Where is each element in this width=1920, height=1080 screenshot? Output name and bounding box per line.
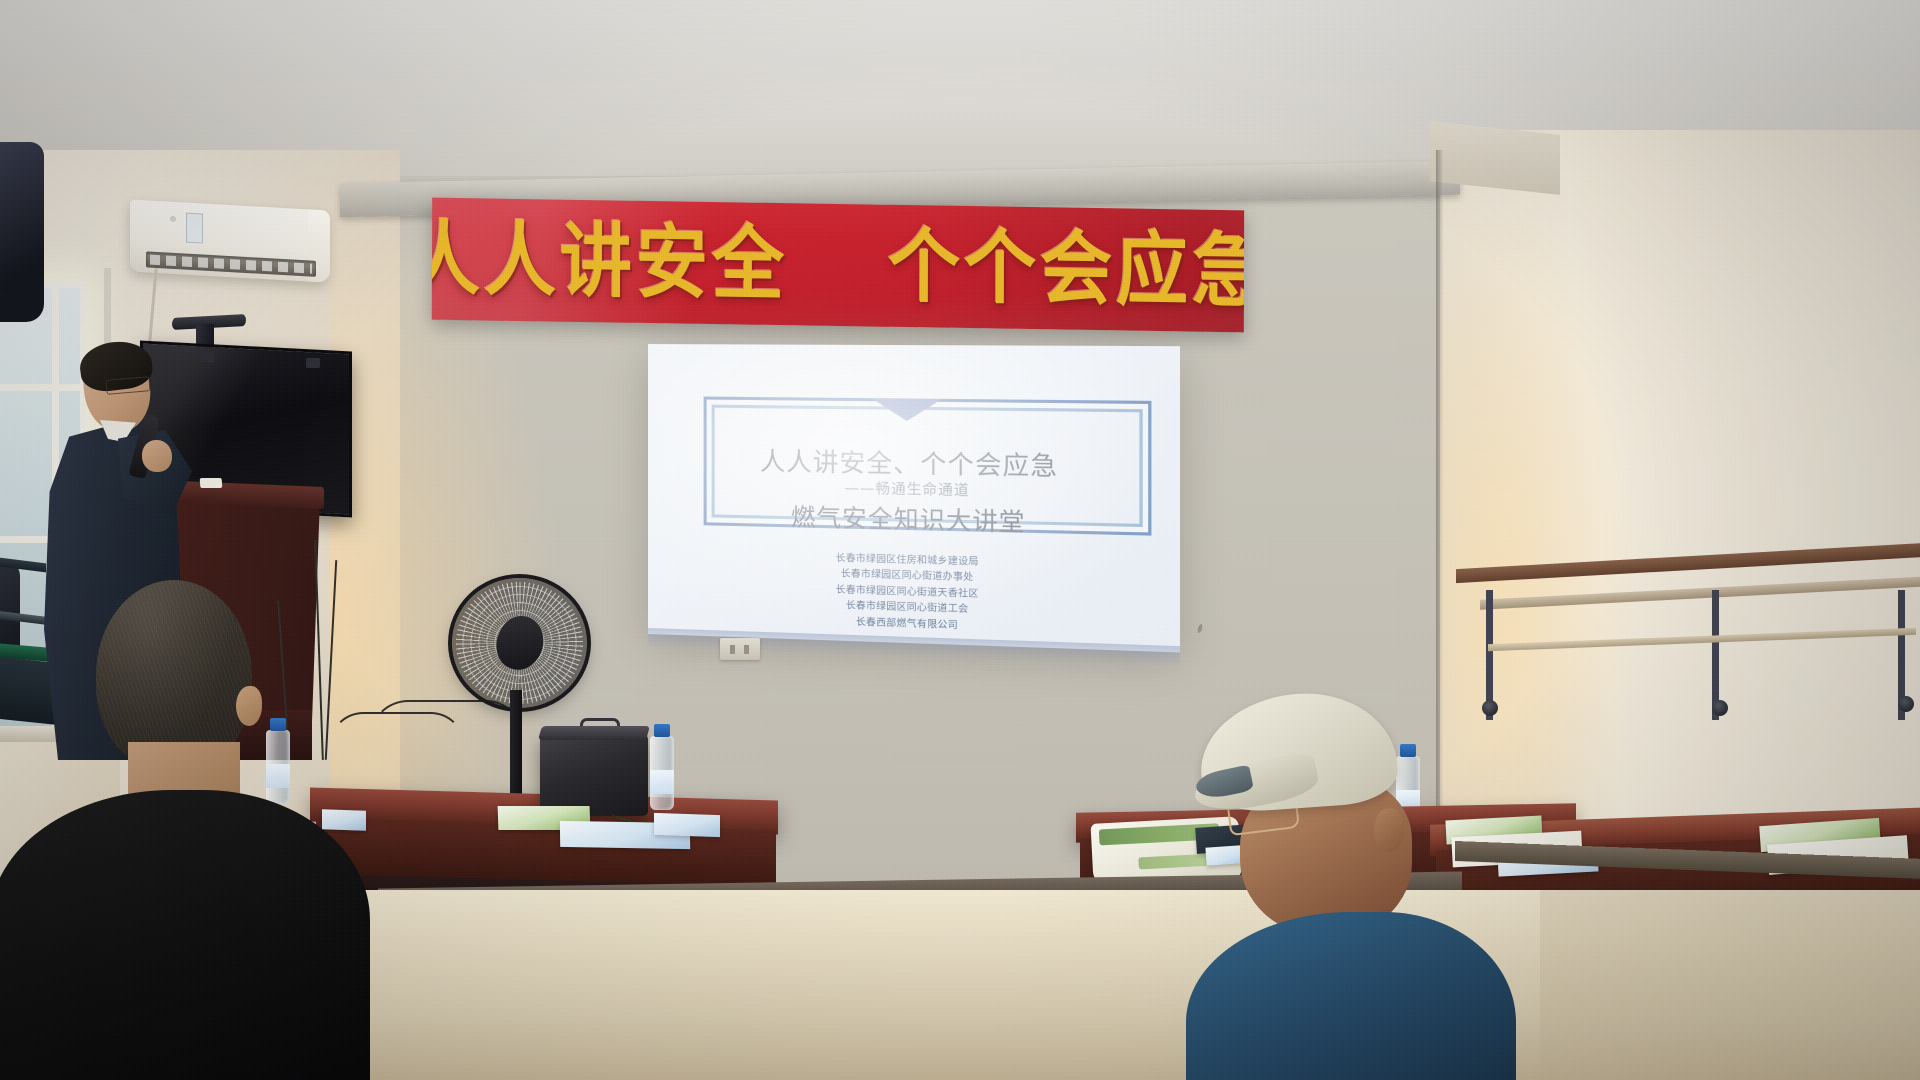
banner-text-right: 个个会应急	[888, 219, 1244, 319]
projection-surface: 人人讲安全、个个会应急 ——畅通生命通道 燃气安全知识大讲堂 长春市绿园区住房和…	[648, 344, 1180, 652]
tv-mount-clip	[200, 352, 214, 362]
bottled-water	[266, 730, 290, 804]
fan-stand-pole	[510, 690, 522, 802]
table-caster-wheel	[1482, 700, 1498, 716]
ac-indicator-light	[170, 216, 176, 222]
slide-triangle-ornament	[871, 398, 942, 421]
attendee-ear	[236, 686, 262, 726]
speaker-top-face	[538, 726, 650, 740]
ac-air-vent	[146, 251, 316, 277]
banner-text-gap	[817, 293, 859, 294]
red-safety-banner: 人人讲安全 个个会应急	[432, 198, 1244, 333]
slide-organization-list: 长春市绿园区住房和城乡建设局 长春市绿园区同心街道办事处 长春市绿园区同心街道天…	[648, 546, 1180, 641]
presenter-hand	[142, 440, 172, 472]
banner-text-left: 人人讲安全	[432, 211, 788, 311]
bottle-label	[650, 770, 674, 794]
bottled-water	[650, 736, 674, 810]
table-caster-wheel	[1712, 700, 1728, 716]
wall-power-outlet	[720, 638, 760, 660]
window-mullion-horizontal	[0, 384, 80, 391]
ac-label-sticker	[186, 213, 203, 244]
meeting-room-photo: 人人讲安全 个个会应急 人人讲安全、个个会应急 ——畅通生命通道 燃气安全知识大…	[0, 0, 1920, 1080]
lectern-notes	[200, 478, 223, 488]
table-caster-wheel	[1898, 696, 1914, 712]
floor-cable-curve	[370, 700, 524, 774]
attendee-ear	[1374, 808, 1404, 852]
bottle-cap	[270, 718, 286, 731]
bottle-label	[266, 764, 290, 788]
bottle-cap	[654, 724, 670, 737]
towel-green-stripe	[1138, 853, 1215, 869]
tv-mount-clip	[306, 358, 320, 368]
pedestal-electric-fan	[452, 578, 587, 708]
attendee-shoulders-black-shirt	[0, 790, 370, 1080]
safety-leaflets	[322, 809, 366, 831]
projected-presentation-slide: 人人讲安全、个个会应急 ——畅通生命通道 燃气安全知识大讲堂 长春市绿园区住房和…	[648, 344, 1180, 652]
bottle-cap	[1400, 744, 1416, 757]
safety-leaflets	[654, 813, 720, 837]
folded-table-legs	[1480, 590, 1920, 720]
banner-text: 人人讲安全 个个会应急	[432, 218, 1244, 312]
ceiling-mounted-dark-fixture	[0, 142, 44, 322]
